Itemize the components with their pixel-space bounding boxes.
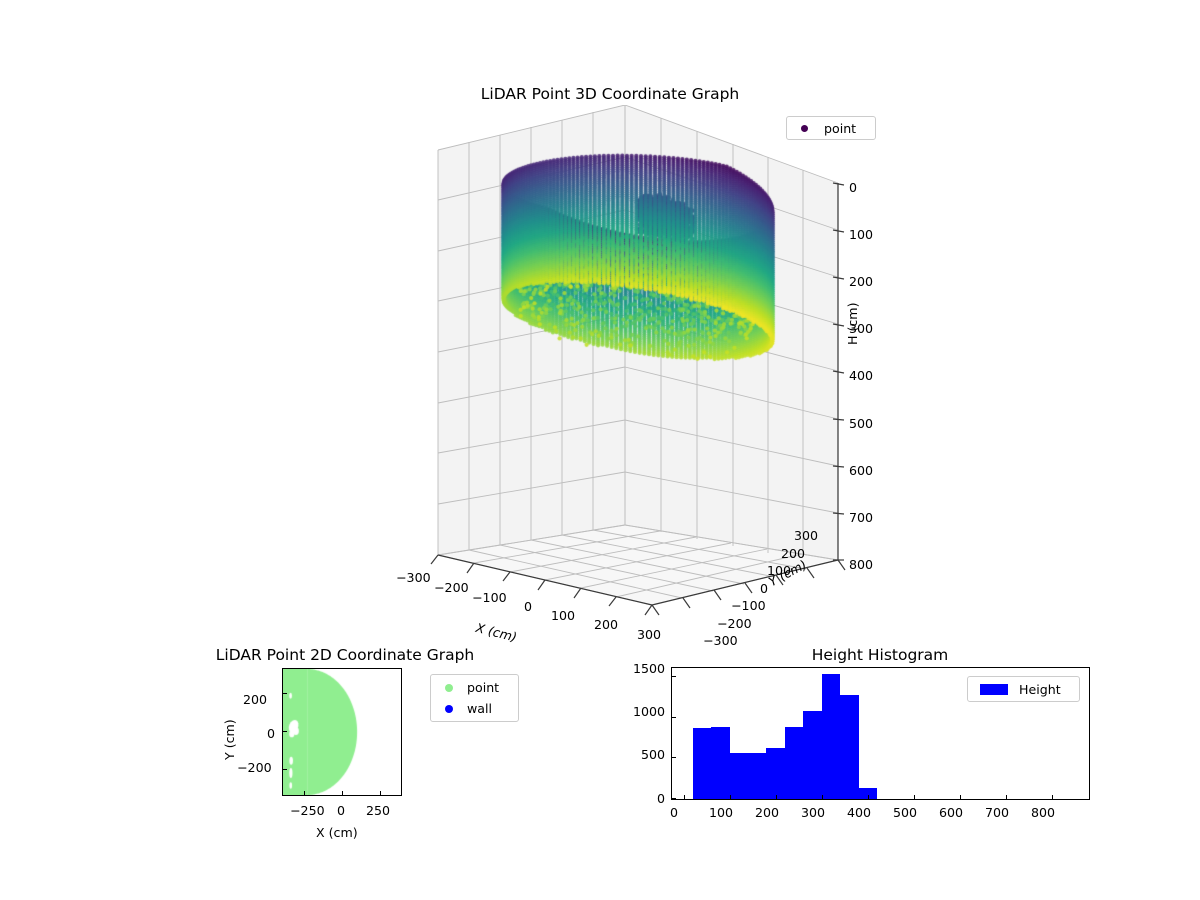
x-tick-300: 300	[637, 627, 661, 642]
hist-x-tick-400: 400	[847, 805, 871, 820]
z-tick-700: 700	[849, 510, 873, 525]
hist-y-tick-500: 500	[641, 747, 665, 762]
hist-y-tickmark	[672, 676, 676, 677]
y2d-axis-label: Y (cm)	[222, 719, 237, 760]
y2d-tick-m200: −200	[237, 760, 272, 775]
hist-x-tick-600: 600	[939, 805, 963, 820]
hist-x-tick-800: 800	[1031, 805, 1055, 820]
lidar-2d-axes[interactable]	[282, 668, 402, 796]
y-tick-300: 300	[794, 528, 818, 543]
histogram-bar	[711, 727, 729, 799]
hist-x-tick-300: 300	[801, 805, 825, 820]
panel-3d-title: LiDAR Point 3D Coordinate Graph	[360, 85, 860, 103]
panel-hist-title: Height Histogram	[730, 646, 1030, 664]
y2d-tickmark	[283, 693, 287, 694]
x2d-tick-m250: −250	[290, 803, 325, 818]
legend-wall-marker-2d	[445, 705, 453, 713]
histogram-bar	[766, 748, 784, 799]
legend-point-marker-2d	[445, 684, 453, 692]
z-axis-label: H (cm)	[845, 303, 860, 346]
panel-hist-legend: Height	[967, 676, 1080, 702]
histogram-bar	[785, 727, 803, 799]
legend-point-label-2d: point	[467, 680, 499, 695]
y2d-tickmark	[283, 769, 287, 770]
x2d-tickmark	[304, 791, 305, 795]
hist-x-tickmark	[1052, 795, 1053, 799]
y2d-tickmark	[283, 731, 287, 732]
hist-y-tickmark	[672, 717, 676, 718]
x-tick-0: 0	[524, 599, 532, 614]
z-tick-0: 0	[849, 180, 857, 195]
hist-y-tick-0: 0	[657, 791, 665, 806]
x-tick-200: 200	[594, 617, 618, 632]
histogram-bar	[840, 695, 858, 799]
hist-x-tick-100: 100	[709, 805, 733, 820]
x2d-tickmark	[380, 791, 381, 795]
legend-wall-label-2d: wall	[467, 701, 492, 716]
hist-x-tick-500: 500	[893, 805, 917, 820]
z-tick-200: 200	[849, 274, 873, 289]
hist-y-tickmark	[672, 798, 676, 799]
legend-height-label: Height	[1019, 682, 1061, 697]
hist-x-tickmark	[914, 795, 915, 799]
hist-x-tickmark	[822, 795, 823, 799]
matplotlib-figure: LiDAR Point 3D Coordinate Graph point	[0, 0, 1200, 900]
x-tick-m100: −100	[472, 590, 507, 605]
hist-x-tickmark	[684, 795, 685, 799]
hist-x-tickmark	[868, 795, 869, 799]
legend-height-patch	[980, 684, 1008, 695]
x2d-tickmark	[342, 791, 343, 795]
y-tick-m200: −200	[717, 616, 752, 631]
x2d-tick-250: 250	[366, 803, 390, 818]
y-tick-0: 0	[760, 581, 768, 596]
z-tick-400: 400	[849, 368, 873, 383]
x-tick-m200: −200	[434, 580, 469, 595]
z-tick-500: 500	[849, 416, 873, 431]
x-tick-m300: −300	[396, 570, 431, 585]
hist-x-tickmark	[1006, 795, 1007, 799]
lidar-2d-canvas	[283, 669, 401, 795]
hist-x-tick-0: 0	[670, 805, 678, 820]
panel-2d-title: LiDAR Point 2D Coordinate Graph	[170, 646, 520, 664]
hist-x-tickmark	[776, 795, 777, 799]
hist-x-tick-200: 200	[755, 805, 779, 820]
hist-y-tick-1500: 1500	[633, 661, 665, 676]
histogram-bar	[803, 711, 821, 799]
x-tick-100: 100	[551, 608, 575, 623]
hist-x-tickmark	[960, 795, 961, 799]
histogram-bar	[730, 753, 748, 799]
z-tick-800: 800	[849, 557, 873, 572]
z-tick-600: 600	[849, 463, 873, 478]
histogram-bar	[822, 674, 840, 799]
x2d-tick-0: 0	[337, 803, 345, 818]
y2d-tick-200: 200	[243, 692, 267, 707]
hist-x-tickmark	[730, 795, 731, 799]
y-tick-m100: −100	[731, 598, 766, 613]
panel-2d-legend: point wall	[430, 674, 519, 722]
y2d-tick-0: 0	[267, 726, 275, 741]
x2d-axis-label: X (cm)	[316, 825, 358, 840]
hist-y-tickmark	[672, 757, 676, 758]
hist-x-tick-700: 700	[985, 805, 1009, 820]
histogram-bar	[693, 728, 711, 799]
z-tick-100: 100	[849, 227, 873, 242]
hist-y-tick-1000: 1000	[633, 704, 665, 719]
histogram-bar	[748, 753, 766, 799]
